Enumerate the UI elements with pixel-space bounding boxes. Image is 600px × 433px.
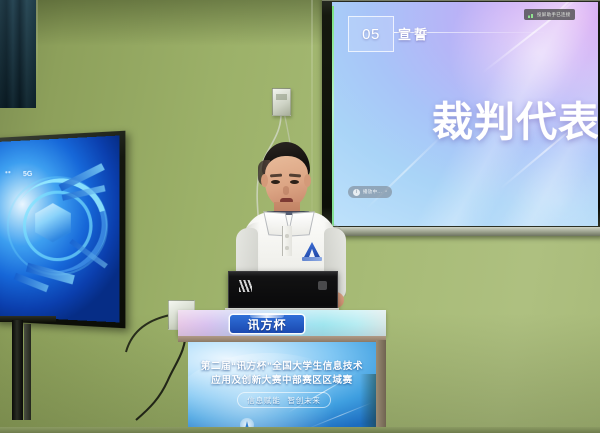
logo-underline [302,257,322,261]
presenter-ear-left [261,174,268,187]
company-triangle-logo [302,242,322,264]
podium-brand-logo-text: 讯方杯 [247,316,286,333]
podium-title-line-1: 第二届“讯方杯”全国大学生信息技术 [188,358,376,372]
screenshot-root: 05 宣誓 裁判代表宣誓 投屏助手已连接 i 播放中... ◦ [0,0,600,433]
laptop-sticker [239,280,252,292]
podium-slogan: 信息赋能 智创未来 [237,392,331,408]
laptop-lid[interactable] [228,271,338,310]
laptop-logo [318,281,327,290]
podium-slogan-left: 信息赋能 [247,395,280,406]
presenter-eye-left [271,180,280,184]
podium-brand-logo: 讯方杯 [230,314,304,334]
podium-front-panel: 第二届“讯方杯”全国大学生信息技术 应用及创新大赛中部赛区区域赛 信息赋能 智创… [188,342,376,433]
laptop[interactable] [228,271,336,315]
presenter-nose [283,186,289,195]
shirt-button-bottom [285,246,289,250]
wall-mounted-receiver[interactable] [272,88,291,116]
shirt-placket [282,226,292,256]
presenter-eye-right [290,180,299,184]
podium-panel-shadow [360,374,376,433]
podium-title-line-2: 应用及创新大赛中部赛区区域赛 [188,372,376,386]
shirt-button-top [285,234,289,238]
presenter-ear-right [304,174,311,187]
podium: 讯方杯 第二届“讯方杯”全国大学生信息技术 应用及创新大赛中部赛区区域赛 信息赋… [178,310,386,433]
floor-strip [0,427,600,433]
podium-side-panel [376,340,386,433]
podium-slogan-right: 智创未来 [288,395,321,406]
